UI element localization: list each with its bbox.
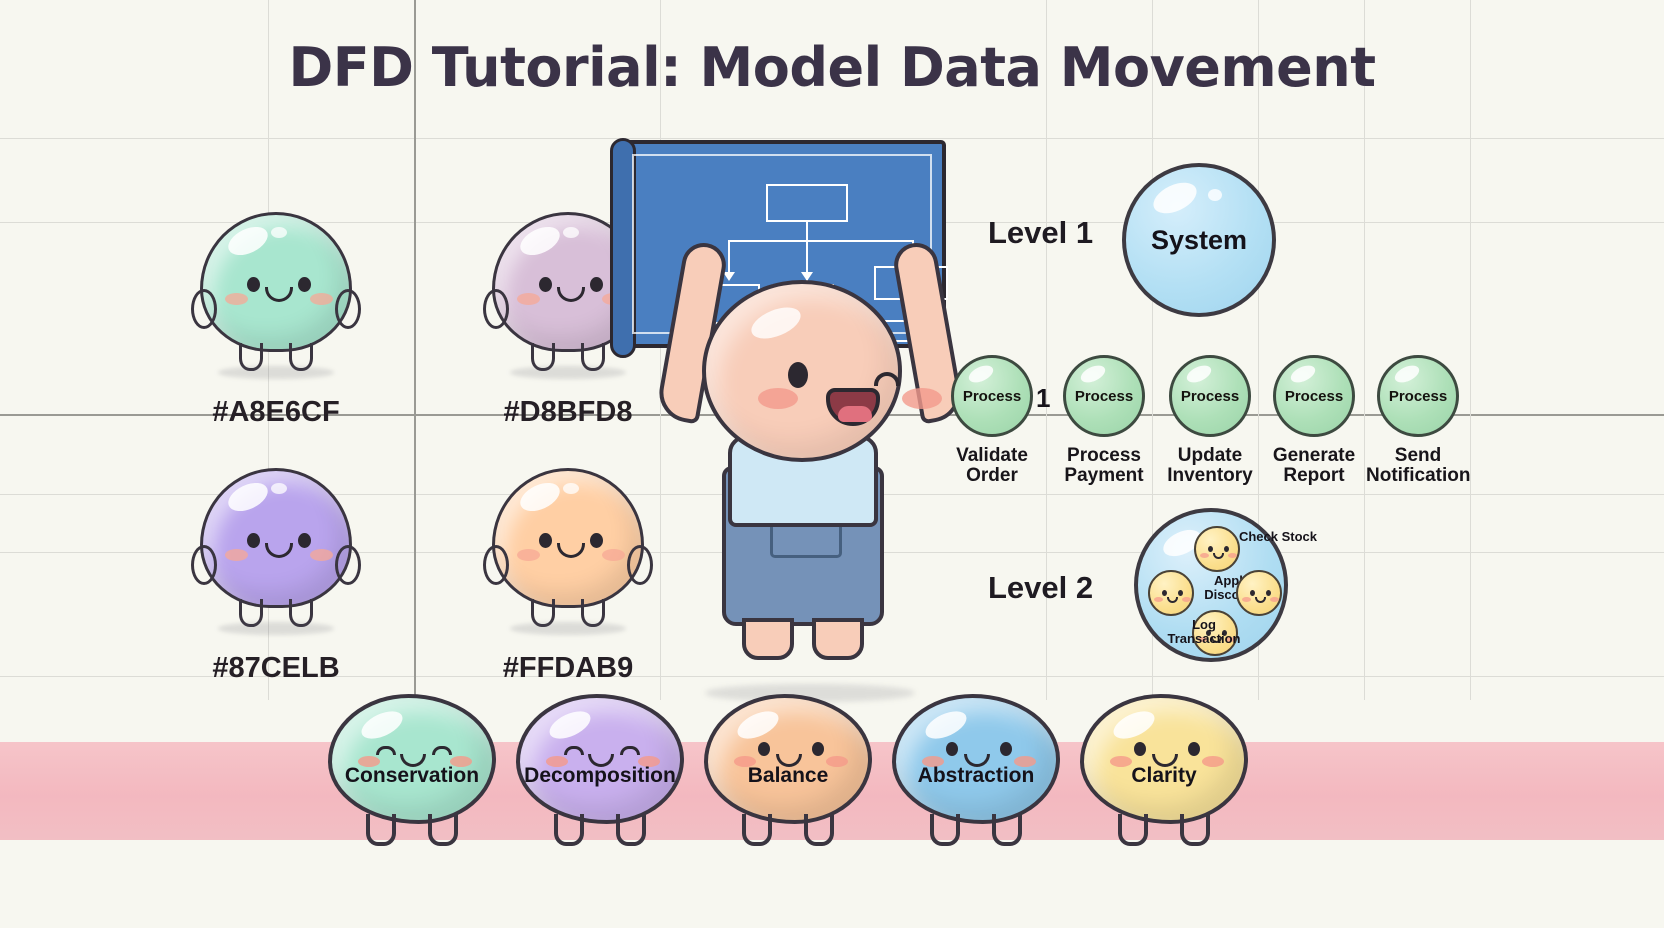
cheek-right [310,293,333,305]
concept-blob: Abstraction [892,694,1060,824]
palette-hex-label: #FFDAB9 [484,652,652,685]
process-name-line1: Generate [1262,446,1366,466]
mascot-wink-eye [874,372,900,386]
mascot-cheek-right [902,388,942,409]
concept-blob: Decomposition [516,694,684,824]
ground-shadow [218,622,334,635]
process-name: Generate Report [1262,446,1366,487]
cheek-right [1270,597,1279,602]
gridline-h-1 [0,138,1664,139]
highlight-shine [1109,706,1158,745]
cheek-left [1242,597,1251,602]
eye-right [812,742,824,756]
process-name: Validate Order [940,446,1044,487]
eye-left [247,533,260,548]
smile-mouth [265,543,293,558]
cheek-left [517,549,540,561]
cheek-left [1110,756,1132,767]
eye-left [1208,546,1213,552]
gridline-v-7 [1364,0,1365,700]
eye-left [758,742,770,756]
arm-left [191,289,217,329]
mascot-open-mouth [826,388,880,426]
highlight-shine-small [271,227,287,238]
process-circle[interactable]: Process [1063,355,1145,437]
process-circle-label: Process [963,388,1021,405]
concept-clarity[interactable]: Clarity [1074,694,1254,824]
cheek-right [826,756,848,767]
process-circle[interactable]: Process [1273,355,1355,437]
mascot-tongue [838,406,872,422]
concept-decomposition[interactable]: Decomposition [510,694,690,824]
arm-left [483,289,509,329]
highlight-shine [357,706,406,745]
process-name-line1: Validate [940,446,1044,466]
mascot-head [702,280,902,462]
cheek-left [517,293,540,305]
blueprint-box-top [766,184,848,222]
process-circle-label: Process [1075,388,1133,405]
subprocess-apply-discount[interactable] [1148,570,1194,616]
eye-right [298,533,311,548]
concept-blob: Conservation [328,694,496,824]
arm-left [191,545,217,585]
level-2-bubble[interactable]: Check Stock Apply Discount Log Transacti… [1134,508,1288,662]
cheek-left [225,293,248,305]
mascot-cheek-left [758,388,798,409]
smile-mouth [1167,597,1178,603]
cheek-right [602,549,625,561]
highlight-shine-small [563,227,579,238]
cheek-right [1228,553,1237,558]
gridline-v-8 [1470,0,1471,700]
blob-character [200,468,352,608]
eye-left [539,533,552,548]
concept-label: Conservation [345,764,479,820]
eye-right [590,533,603,548]
process-number: 1 [1036,383,1050,414]
eye-left [1134,742,1146,756]
concept-blob: Balance [704,694,872,824]
arm-right [335,289,361,329]
concept-balance[interactable]: Balance [698,694,878,824]
process-node-1[interactable]: Process Process Payment [1052,355,1156,487]
ground-shadow [510,366,626,379]
ground-shadow [510,622,626,635]
circle-highlight [966,362,995,386]
palette-swatch-0: #A8E6CF [192,212,360,429]
eye-left [247,277,260,292]
circle-highlight [1184,362,1213,386]
process-name-line1: Process [1052,446,1156,466]
process-name-line2: Payment [1052,466,1156,486]
subprocess-extra[interactable] [1236,570,1282,616]
eye-left [1250,590,1255,596]
mascot-eye-left [788,362,808,388]
process-name-line2: Report [1262,466,1366,486]
palette-hex-label: #D8BFD8 [484,396,652,429]
highlight-shine [921,706,970,745]
mascot-leg-left [742,618,794,660]
arm-right [627,545,653,585]
highlight-shine [545,706,594,745]
blueprint-connector [728,240,914,242]
process-name-line2: Inventory [1158,466,1262,486]
blob-character [200,212,352,352]
system-bubble-label: System [1151,225,1247,256]
circle-highlight [1392,362,1421,386]
head-highlight [747,301,805,345]
process-name-line2: Notification [1366,466,1470,486]
arm-right [335,545,361,585]
mascot-leg-right [812,618,864,660]
process-circle-label: Process [1181,388,1239,405]
blueprint-connector [728,240,730,274]
smile-mouth [265,287,293,302]
concept-label: Decomposition [524,764,676,820]
concept-label: Balance [748,764,829,820]
process-circle[interactable]: Process [951,355,1033,437]
highlight-shine [516,477,564,517]
highlight-shine [224,221,272,261]
eye-right-wink [432,746,452,755]
concept-blob: Clarity [1080,694,1248,824]
process-circle[interactable]: Process [1169,355,1251,437]
smile-mouth [557,543,585,558]
mascot-character [660,270,960,650]
eye-left-wink [376,746,396,755]
process-circle-label: Process [1285,388,1343,405]
cheek-left [1200,553,1209,558]
palette-hex-label: #A8E6CF [192,396,360,429]
smile-mouth [1255,597,1266,603]
highlight-shine [224,477,272,517]
highlight-shine-small [563,483,579,494]
ground-shadow [218,366,334,379]
eye-right [1266,590,1271,596]
cheek-right [310,549,333,561]
eye-right [1188,742,1200,756]
cheek-left [1154,597,1163,602]
palette-hex-label: #87CELB [192,652,360,685]
subprocess-label-check-stock: Check Stock [1236,530,1320,544]
subprocess-label-log-transaction: Log Transaction [1162,618,1246,645]
page-title: DFD Tutorial: Model Data Movement [0,36,1664,99]
process-node-4[interactable]: Process Send Notification [1366,355,1470,487]
level-1-label: Level 1 [988,215,1093,251]
concept-label: Abstraction [918,764,1035,820]
bubble-highlight [1149,176,1202,219]
smile-mouth [557,287,585,302]
process-name-line1: Update [1158,446,1262,466]
eye-left [946,742,958,756]
eye-right-wink [620,746,640,755]
eye-left-wink [564,746,584,755]
eye-left [539,277,552,292]
concept-label: Clarity [1131,764,1196,820]
circle-highlight [1288,362,1317,386]
gridline-v-2 [414,0,416,700]
illustration-canvas: DFD Tutorial: Model Data Movement #A8E6C… [0,0,1664,928]
highlight-shine [733,706,782,745]
concept-abstraction[interactable]: Abstraction [886,694,1066,824]
process-node-2[interactable]: Process Update Inventory [1158,355,1262,487]
process-name-line1: Send [1366,446,1470,466]
process-name: Process Payment [1052,446,1156,487]
process-name: Update Inventory [1158,446,1262,487]
process-circle-label: Process [1389,388,1447,405]
process-node-3[interactable]: Process Generate Report [1262,355,1366,487]
blob-character [492,468,644,608]
palette-swatch-2: #87CELB [192,468,360,685]
bubble-highlight-small [1208,189,1222,201]
concept-conservation[interactable]: Conservation [322,694,502,824]
smile-mouth [1213,553,1224,559]
eye-right [590,277,603,292]
circle-highlight [1078,362,1107,386]
arm-left [483,545,509,585]
level-2-label: Level 2 [988,570,1093,606]
process-name-line2: Order [940,466,1044,486]
cheek-left [225,549,248,561]
cheek-right [1202,756,1224,767]
process-name: Send Notification [1366,446,1470,487]
eye-left [1162,590,1167,596]
palette-swatch-3: #FFDAB9 [484,468,652,685]
eye-right [1000,742,1012,756]
highlight-shine [516,221,564,261]
eye-right [1224,546,1229,552]
subprocess-check-stock[interactable] [1194,526,1240,572]
system-bubble[interactable]: System [1122,163,1276,317]
highlight-shine-small [271,483,287,494]
eye-right [298,277,311,292]
eye-right [1178,590,1183,596]
process-circle[interactable]: Process [1377,355,1459,437]
process-node-0[interactable]: Process 1 Validate Order [940,355,1044,487]
